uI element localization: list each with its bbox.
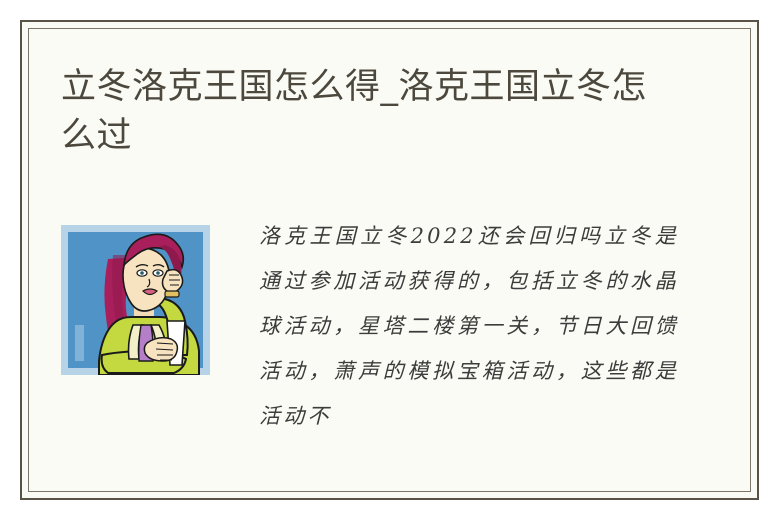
page-title: 立冬洛克王国怎么得_洛克王国立冬怎么过 (61, 63, 681, 161)
article-thumbnail (61, 225, 210, 375)
woman-with-cup-illustration (61, 225, 210, 375)
article-body-text: 洛克王国立冬2022还会回归吗立冬是通过参加活动获得的，包括立冬的水晶球活动，星… (259, 214, 679, 439)
article-card: 立冬洛克王国怎么得_洛克王国立冬怎么过 (20, 20, 759, 500)
article-card-inner-border: 立冬洛克王国怎么得_洛克王国立冬怎么过 (28, 28, 751, 492)
article-content: 洛克王国立冬2022还会回归吗立冬是通过参加活动获得的，包括立冬的水晶球活动，星… (61, 204, 728, 481)
